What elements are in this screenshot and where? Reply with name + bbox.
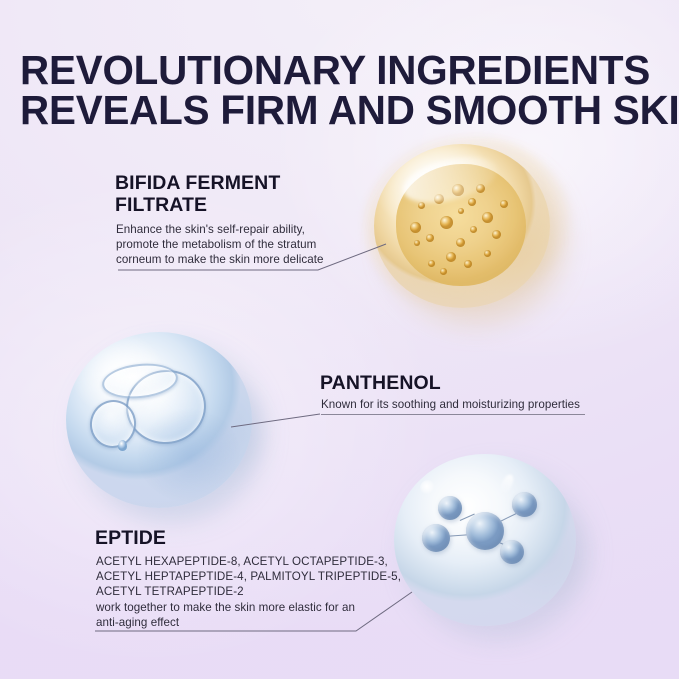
- page-title: REVOLUTIONARY INGREDIENTS REVEALS FIRM A…: [20, 51, 660, 131]
- ingredient-description-bifida-line-3: corneum to make the skin more delicate: [116, 252, 376, 267]
- ingredient-title-panthenol: PANTHENOL: [320, 372, 580, 394]
- ingredient-description-eptide: ACETYL HEXAPEPTIDE-8, ACETYL OCTAPEPTIDE…: [96, 554, 396, 630]
- text-layer: REVOLUTIONARY INGREDIENTS REVEALS FIRM A…: [0, 0, 679, 679]
- ingredient-description-panthenol: Known for its soothing and moisturizing …: [321, 397, 621, 412]
- ingredient-description-bifida: Enhance the skin's self-repair ability, …: [116, 222, 376, 268]
- page-title-line-1: REVOLUTIONARY INGREDIENTS: [20, 51, 660, 91]
- page-title-line-2: REVEALS FIRM AND SMOOTH SKIN: [20, 91, 660, 131]
- ingredient-infographic: REVOLUTIONARY INGREDIENTS REVEALS FIRM A…: [0, 0, 679, 679]
- ingredient-title-panthenol-line-1: PANTHENOL: [320, 372, 441, 394]
- ingredient-title-eptide-line-1: EPTIDE: [95, 527, 166, 549]
- ingredient-description-eptide-line-1: ACETYL HEXAPEPTIDE-8, ACETYL OCTAPEPTIDE…: [96, 554, 396, 569]
- ingredient-description-eptide-line-2: ACETYL HEPTAPEPTIDE-4, PALMITOYL TRIPEPT…: [96, 569, 396, 584]
- ingredient-description-eptide-line-3: ACETYL TETRAPEPTIDE-2: [96, 584, 396, 599]
- ingredient-description-panthenol-line-1: Known for its soothing and moisturizing …: [321, 397, 621, 412]
- ingredient-title-bifida: BIFIDA FERMENT FILTRATE: [115, 172, 365, 216]
- ingredient-title-bifida-line-2: FILTRATE: [115, 194, 207, 216]
- ingredient-description-eptide-line-5: anti-aging effect: [96, 615, 396, 630]
- ingredient-description-bifida-line-2: promote the metabolism of the stratum: [116, 237, 376, 252]
- ingredient-description-bifida-line-1: Enhance the skin's self-repair ability,: [116, 222, 376, 237]
- ingredient-title-eptide: EPTIDE: [95, 527, 295, 549]
- ingredient-title-bifida-line-1: BIFIDA FERMENT: [115, 172, 280, 194]
- ingredient-description-eptide-line-4: work together to make the skin more elas…: [96, 600, 396, 615]
